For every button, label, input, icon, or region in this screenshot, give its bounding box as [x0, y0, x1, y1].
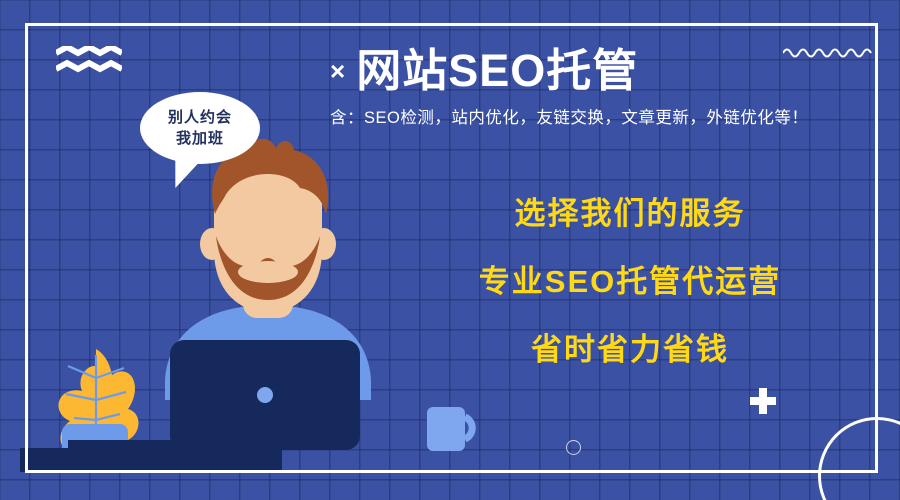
cross-mark-icon: ×	[330, 56, 346, 86]
poster-frame-bottom	[25, 470, 878, 473]
speech-bubble: 别人约会 我加班	[140, 92, 260, 164]
selling-point-1: 选择我们的服务	[430, 196, 830, 232]
page-title: ×网站SEO托管	[330, 44, 890, 98]
title-text: 网站SEO托管	[356, 45, 638, 96]
selling-point-2: 专业SEO托管代运营	[430, 264, 830, 300]
wave-left-icon	[56, 46, 122, 76]
headline-block: ×网站SEO托管 含：SEO检测，站内优化，友链交换，文章更新，外链优化等！	[330, 44, 890, 129]
poster-canvas: ×网站SEO托管 含：SEO检测，站内优化，友链交换，文章更新，外链优化等！ 选…	[0, 0, 900, 500]
selling-points-list: 选择我们的服务 专业SEO托管代运营 省时省力省钱	[430, 196, 830, 368]
small-circle-icon	[566, 440, 581, 455]
subtitle-text: 含：SEO检测，站内优化，友链交换，文章更新，外链优化等！	[330, 107, 890, 129]
speech-bubble-line-1: 别人约会	[168, 107, 232, 128]
selling-point-3: 省时省力省钱	[430, 332, 830, 368]
speech-bubble-line-2: 我加班	[176, 128, 224, 149]
plus-mark-icon	[750, 388, 776, 414]
